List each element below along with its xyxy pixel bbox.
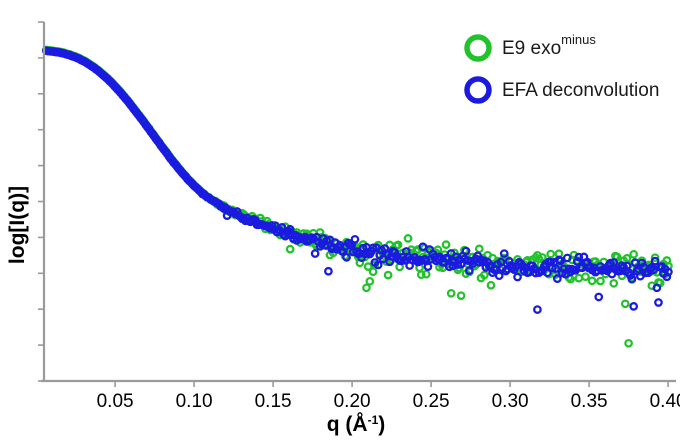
data-point	[582, 274, 588, 280]
data-point	[425, 263, 431, 269]
x-tick-label: 0.10	[176, 391, 213, 412]
data-point	[488, 282, 494, 288]
y-axis-title-text: log[I(q)]	[6, 186, 29, 264]
data-point	[448, 290, 454, 296]
data-point	[564, 255, 570, 261]
data-point	[395, 242, 401, 248]
legend-label-e9-superscript: minus	[561, 32, 596, 47]
legend-marker-green-circle-icon	[467, 37, 489, 59]
data-point	[622, 301, 628, 307]
data-point	[312, 250, 318, 256]
data-point	[325, 268, 331, 274]
data-point	[476, 246, 482, 252]
legend-label-e9: E9 exominus	[502, 32, 596, 59]
data-point	[423, 271, 429, 277]
data-point	[466, 267, 472, 273]
data-point	[589, 278, 595, 284]
data-point	[534, 306, 540, 312]
x-axis-title-superscript: -1	[368, 413, 379, 427]
plot-canvas: 0.050.100.150.200.250.300.350.40 log[I(q…	[0, 0, 680, 441]
legend-label-efa: EFA deconvolution	[502, 80, 659, 101]
data-point	[370, 269, 376, 275]
data-point	[576, 275, 582, 281]
data-point	[548, 251, 554, 257]
data-point	[367, 278, 373, 284]
data-point	[611, 280, 617, 286]
data-point	[630, 303, 636, 309]
data-point	[632, 259, 638, 265]
x-axis-ticks: 0.050.100.150.200.250.300.350.40	[97, 381, 680, 412]
data-point	[514, 274, 520, 280]
data-point	[481, 272, 487, 278]
x-tick-label: 0.20	[334, 391, 371, 412]
data-point	[405, 235, 411, 241]
data-point	[655, 299, 661, 305]
x-tick-label: 0.40	[650, 391, 680, 412]
legend-label-e9-text: E9 exo	[502, 38, 561, 59]
x-tick-label: 0.25	[413, 391, 450, 412]
x-tick-label: 0.30	[492, 391, 529, 412]
x-tick-label: 0.05	[97, 391, 134, 412]
data-point	[385, 272, 391, 278]
data-point	[654, 285, 660, 291]
legend: E9 exominus EFA deconvolution	[467, 32, 659, 101]
y-axis-title: log[I(q)]	[6, 186, 29, 264]
legend-item-e9-exo-minus[interactable]: E9 exominus	[467, 32, 596, 59]
data-point	[501, 250, 507, 256]
x-tick-label: 0.35	[571, 391, 608, 412]
legend-marker-blue-circle-icon	[467, 79, 489, 101]
x-axis-title-end: )	[378, 413, 385, 436]
legend-item-efa-deconvolution[interactable]: EFA deconvolution	[467, 79, 659, 101]
data-point	[443, 241, 449, 247]
saxs-scatter-figure: 0.050.100.150.200.250.300.350.40 log[I(q…	[0, 0, 680, 441]
data-point	[363, 285, 369, 291]
data-point	[287, 246, 293, 252]
data-point	[597, 278, 603, 284]
data-point	[630, 251, 636, 257]
data-point-outlier	[625, 340, 631, 346]
x-axis-title: q (Å-1)	[327, 412, 386, 436]
x-tick-label: 0.15	[255, 391, 292, 412]
data-point	[352, 236, 358, 242]
legend-label-efa-text: EFA deconvolution	[502, 80, 659, 101]
data-point	[458, 292, 464, 298]
data-point	[596, 294, 602, 300]
x-axis-title-main: q (Å	[327, 412, 368, 436]
data-point	[463, 248, 469, 254]
data-point	[496, 273, 502, 279]
